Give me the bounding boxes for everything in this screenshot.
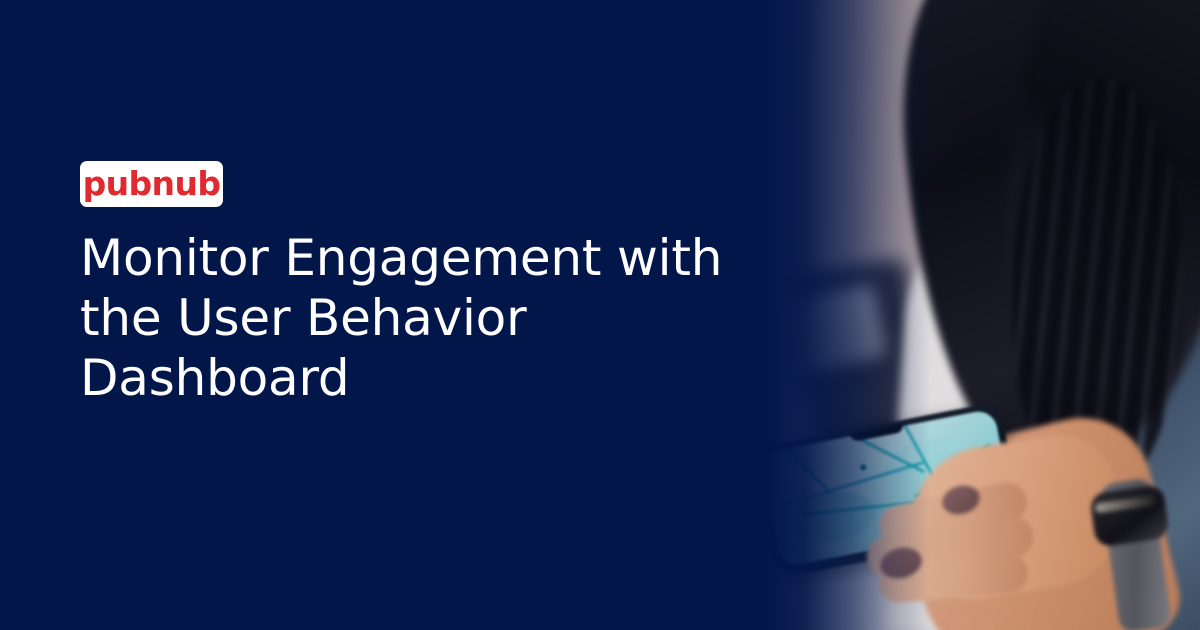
- pubnub-logo-wordmark: pubnub: [83, 167, 221, 200]
- map-pin-icon: [860, 464, 867, 471]
- smartwatch-face: [1089, 484, 1170, 548]
- hero-photo: [760, 0, 1200, 630]
- map-region-icon: [787, 485, 881, 549]
- pubnub-logo[interactable]: pubnub: [80, 161, 223, 207]
- social-share-card: pubnub Monitor Engagement with the User …: [0, 0, 1200, 630]
- page-title: Monitor Engagement with the User Behavio…: [80, 228, 770, 408]
- content-panel: pubnub Monitor Engagement with the User …: [0, 0, 790, 630]
